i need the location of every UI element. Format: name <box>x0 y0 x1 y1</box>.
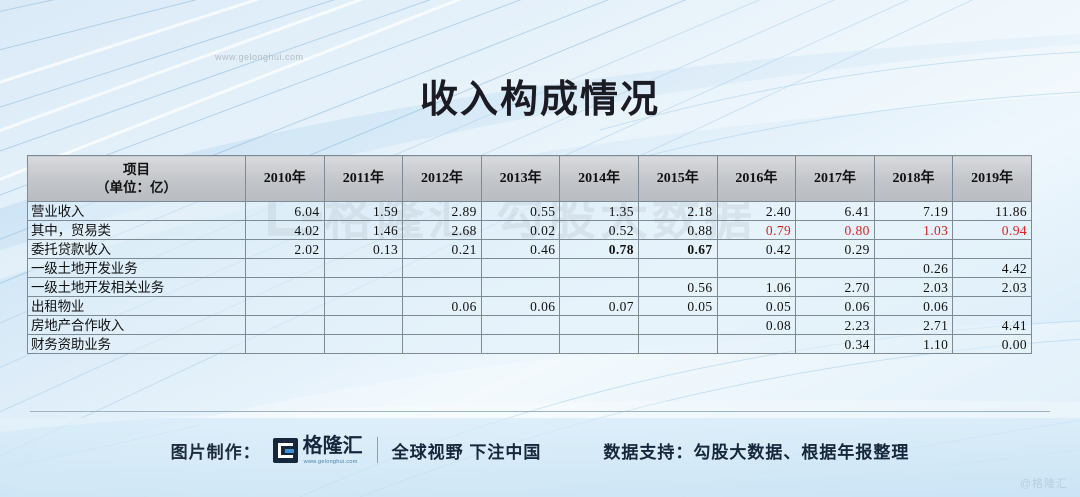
table-cell <box>324 297 403 316</box>
data-table: 项目 （单位：亿） 2010年 2011年 2012年 2013年 2014年 … <box>27 155 1032 354</box>
table-cell <box>324 335 403 354</box>
data-source-label: 数据支持：勾股大数据、根据年报整理 <box>603 438 909 463</box>
table-body: 营业收入6.041.592.890.551.352.182.406.417.19… <box>28 202 1032 354</box>
footer-bar: 图片制作： 格隆汇 www.gelonghui.com 全球视野 下注中国 数据… <box>0 428 1080 472</box>
brand-name: 格隆汇 <box>303 435 363 457</box>
table-cell: 1.59 <box>324 202 403 221</box>
corner-watermark: @格隆汇 <box>1020 475 1068 491</box>
table-cell <box>324 259 403 278</box>
table-cell <box>403 278 482 297</box>
row-label: 营业收入 <box>28 202 246 221</box>
table-cell <box>717 335 796 354</box>
table-cell: 0.46 <box>481 240 560 259</box>
table-cell <box>560 335 639 354</box>
table-cell <box>246 278 325 297</box>
table-cell <box>560 259 639 278</box>
page-title: 收入构成情况 <box>0 68 1080 123</box>
table-cell: 1.35 <box>560 202 639 221</box>
item-header-line2: （单位：亿） <box>28 179 245 197</box>
column-header-year: 2014年 <box>560 156 639 202</box>
table-row: 委托贷款收入2.020.130.210.460.780.670.420.29 <box>28 240 1032 259</box>
row-label: 委托贷款收入 <box>28 240 246 259</box>
table-row: 财务资助业务0.341.100.00 <box>28 335 1032 354</box>
table-cell: 0.55 <box>481 202 560 221</box>
table-cell: 11.86 <box>953 202 1032 221</box>
table-cell: 0.67 <box>638 240 717 259</box>
table-cell: 7.19 <box>874 202 953 221</box>
table-cell <box>638 335 717 354</box>
brand-text: 格隆汇 www.gelonghui.com <box>303 437 363 464</box>
row-label: 出租物业 <box>28 297 246 316</box>
table-cell <box>246 259 325 278</box>
column-header-year: 2019年 <box>953 156 1032 202</box>
table-cell: 0.29 <box>796 240 875 259</box>
row-label: 房地产合作收入 <box>28 316 246 335</box>
table-row: 一级土地开发业务0.264.42 <box>28 259 1032 278</box>
table-cell: 0.02 <box>481 221 560 240</box>
table-cell: 1.06 <box>717 278 796 297</box>
table-cell: 0.06 <box>403 297 482 316</box>
table-cell <box>874 240 953 259</box>
table-row: 出租物业0.060.060.070.050.050.060.06 <box>28 297 1032 316</box>
table-cell: 0.05 <box>717 297 796 316</box>
table-cell: 1.03 <box>874 221 953 240</box>
row-label: 一级土地开发相关业务 <box>28 278 246 297</box>
table-cell: 0.00 <box>953 335 1032 354</box>
table-cell <box>953 240 1032 259</box>
table-cell: 0.52 <box>560 221 639 240</box>
table-cell: 4.02 <box>246 221 325 240</box>
brand-slogan: 全球视野 下注中国 <box>392 438 542 463</box>
table-cell <box>481 316 560 335</box>
row-label: 一级土地开发业务 <box>28 259 246 278</box>
table-cell: 0.13 <box>324 240 403 259</box>
table-cell: 0.06 <box>796 297 875 316</box>
revenue-composition-table: 项目 （单位：亿） 2010年 2011年 2012年 2013年 2014年 … <box>27 155 1032 354</box>
column-header-year: 2013年 <box>481 156 560 202</box>
column-header-year: 2015年 <box>638 156 717 202</box>
footer-divider <box>30 411 1050 412</box>
table-cell: 0.08 <box>717 316 796 335</box>
column-header-year: 2018年 <box>874 156 953 202</box>
table-cell: 4.42 <box>953 259 1032 278</box>
table-cell: 2.70 <box>796 278 875 297</box>
item-header-line1: 项目 <box>28 161 245 179</box>
table-cell: 0.34 <box>796 335 875 354</box>
table-cell: 2.23 <box>796 316 875 335</box>
column-header-year: 2011年 <box>324 156 403 202</box>
table-cell: 0.88 <box>638 221 717 240</box>
row-label: 其中，贸易类 <box>28 221 246 240</box>
table-cell: 2.68 <box>403 221 482 240</box>
gelonghui-mark-icon <box>273 438 298 463</box>
table-cell: 0.07 <box>560 297 639 316</box>
table-cell: 0.78 <box>560 240 639 259</box>
table-cell <box>481 259 560 278</box>
table-cell: 2.02 <box>246 240 325 259</box>
table-cell: 4.41 <box>953 316 1032 335</box>
table-cell: 0.94 <box>953 221 1032 240</box>
column-header-year: 2017年 <box>796 156 875 202</box>
table-cell <box>638 316 717 335</box>
table-cell: 0.79 <box>717 221 796 240</box>
table-cell: 0.56 <box>638 278 717 297</box>
table-cell: 2.89 <box>403 202 482 221</box>
table-cell <box>717 259 796 278</box>
table-cell: 0.26 <box>874 259 953 278</box>
table-row: 营业收入6.041.592.890.551.352.182.406.417.19… <box>28 202 1032 221</box>
column-header-year: 2010年 <box>246 156 325 202</box>
table-row: 一级土地开发相关业务0.561.062.702.032.03 <box>28 278 1032 297</box>
table-cell <box>403 335 482 354</box>
table-cell: 0.21 <box>403 240 482 259</box>
table-cell: 6.41 <box>796 202 875 221</box>
table-cell <box>324 316 403 335</box>
table-cell <box>246 297 325 316</box>
table-cell <box>953 297 1032 316</box>
table-cell <box>481 278 560 297</box>
table-cell <box>246 316 325 335</box>
table-cell: 2.40 <box>717 202 796 221</box>
table-header: 项目 （单位：亿） 2010年 2011年 2012年 2013年 2014年 … <box>28 156 1032 202</box>
column-header-year: 2012年 <box>403 156 482 202</box>
table-cell: 2.71 <box>874 316 953 335</box>
table-cell <box>560 316 639 335</box>
table-cell: 0.06 <box>874 297 953 316</box>
table-cell <box>403 259 482 278</box>
table-cell <box>324 278 403 297</box>
column-header-year: 2016年 <box>717 156 796 202</box>
made-by-label: 图片制作： <box>171 438 261 463</box>
table-cell: 0.05 <box>638 297 717 316</box>
footer-separator <box>377 437 378 463</box>
table-cell: 6.04 <box>246 202 325 221</box>
table-cell <box>403 316 482 335</box>
table-cell <box>246 335 325 354</box>
table-cell <box>638 259 717 278</box>
brand-url: www.gelonghui.com <box>304 459 358 465</box>
table-cell: 0.80 <box>796 221 875 240</box>
table-row: 房地产合作收入0.082.232.714.41 <box>28 316 1032 335</box>
table-cell: 1.46 <box>324 221 403 240</box>
table-cell: 2.18 <box>638 202 717 221</box>
gelonghui-logo: 格隆汇 www.gelonghui.com <box>273 437 363 464</box>
table-cell: 1.10 <box>874 335 953 354</box>
row-label: 财务资助业务 <box>28 335 246 354</box>
table-cell: 0.42 <box>717 240 796 259</box>
table-cell <box>560 278 639 297</box>
table-cell <box>481 335 560 354</box>
table-cell: 2.03 <box>953 278 1032 297</box>
table-row: 其中，贸易类4.021.462.680.020.520.880.790.801.… <box>28 221 1032 240</box>
table-cell: 0.06 <box>481 297 560 316</box>
table-cell: 2.03 <box>874 278 953 297</box>
table-header-row: 项目 （单位：亿） 2010年 2011年 2012年 2013年 2014年 … <box>28 156 1032 202</box>
column-header-item: 项目 （单位：亿） <box>28 156 246 202</box>
table-cell <box>796 259 875 278</box>
